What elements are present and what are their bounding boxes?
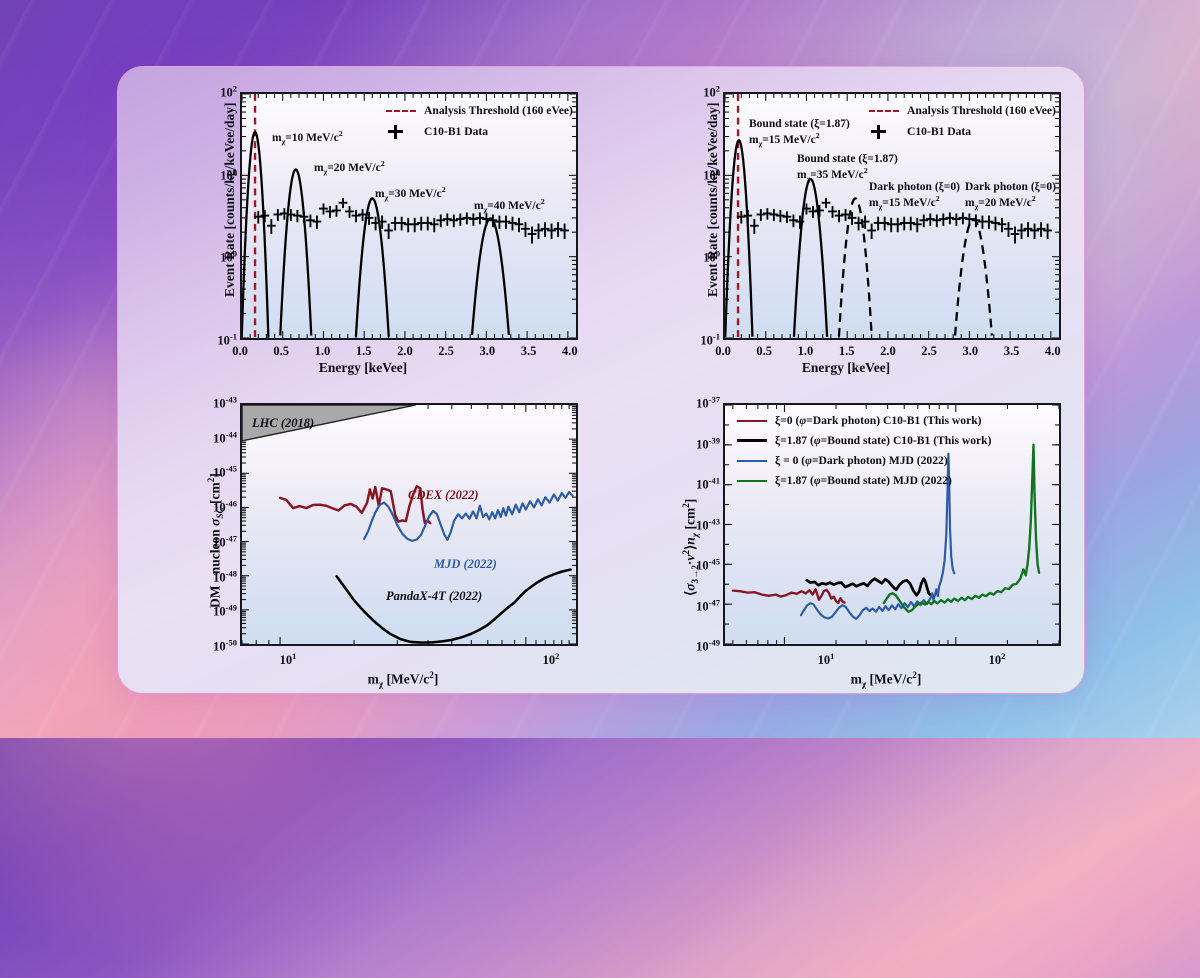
line-swatch-icon (737, 420, 767, 422)
figure-card: Event Rate [counts/kg/keVee/day] 102 101… (117, 66, 1085, 694)
xtick-bl-0: 101 (280, 651, 297, 668)
xtick-top-left-2: 1.0 (315, 344, 331, 359)
annotation-tr-peak2: Bound state (ξ=1.87)mχ=35 MeV/c2 (797, 152, 898, 184)
ytick-bl-2: 10-45 (196, 464, 237, 481)
legend-row-br-0: ξ=0 (φ=Dark photon) C10-B1 (This work) (737, 412, 992, 429)
ytick-top-right-0: 102 (687, 83, 720, 100)
xtitle-bottom-right: mχ [MeV/c2] (851, 670, 922, 689)
ytick-bl-4: 10-47 (196, 533, 237, 550)
xtitle-top-right: Energy [keVee] (802, 360, 890, 376)
ytick-bl-6: 10-49 (196, 603, 237, 620)
plot-canvas-bottom-left (242, 405, 576, 644)
xtick-top-right-7: 3.5 (1004, 344, 1020, 359)
xtick-top-right-3: 1.5 (839, 344, 855, 359)
ytick-bl-1: 10-44 (196, 429, 237, 446)
ytick-br-3: 10-43 (679, 516, 720, 533)
ytick-br-0: 10-37 (679, 394, 720, 411)
legend-label-br-2: ξ = 0 (φ=Dark photon) MJD (2022) (775, 454, 948, 467)
line-swatch-icon (737, 480, 767, 482)
curve-label-mjd: MJD (2022) (434, 557, 497, 572)
ytick-top-left-0: 102 (204, 83, 237, 100)
curve-label-pandax: PandaX-4T (2022) (386, 589, 482, 604)
ytick-br-1: 10-39 (679, 435, 720, 452)
legend-row-br-1: ξ=1.87 (φ=Bound state) C10-B1 (This work… (737, 432, 992, 449)
annotation-tl-peak2: mχ=20 MeV/c2 (314, 159, 385, 177)
legend-row-threshold: Analysis Threshold (160 eVee) (386, 102, 573, 119)
annotation-tl-peak4: mχ=40 MeV/c2 (474, 197, 545, 215)
legend-top-left: Analysis Threshold (160 eVee) C10-B1 Dat… (386, 102, 573, 140)
cross-marker-icon (386, 125, 416, 139)
ytick-top-right-2: 100 (687, 249, 720, 266)
xtick-top-right-6: 3.0 (962, 344, 978, 359)
ytick-br-6: 10-49 (679, 637, 720, 654)
annotation-tl-peak3: mχ=30 MeV/c2 (375, 185, 446, 203)
ytitle-top-left: Event Rate [counts/kg/keVee/day] (222, 103, 238, 298)
ytick-top-left-1: 101 (204, 166, 237, 183)
legend-row-br-3: ξ=1.87 (φ=Bound state) MJD (2022) (737, 472, 992, 489)
xtick-br-1: 102 (989, 651, 1006, 668)
panel-top-right: Event Rate [counts/kg/keVee/day] 102 101… (601, 67, 1084, 380)
dashed-line-icon (386, 110, 416, 112)
legend-top-right: Analysis Threshold (160 eVee) C10-B1 Dat… (869, 102, 1056, 140)
plot-frame-bottom-left (240, 403, 578, 646)
xtick-top-left-5: 2.5 (438, 344, 454, 359)
xtick-top-left-1: 0.5 (273, 344, 289, 359)
xtick-top-right-8: 4.0 (1045, 344, 1061, 359)
xtick-top-right-5: 2.5 (921, 344, 937, 359)
line-swatch-icon (737, 460, 767, 462)
annotation-tl-peak1: mχ=10 MeV/c2 (272, 129, 343, 147)
legend-bottom-right: ξ=0 (φ=Dark photon) C10-B1 (This work) ξ… (737, 412, 992, 489)
dashed-line-icon (869, 110, 899, 112)
legend-label-threshold: Analysis Threshold (160 eVee) (424, 104, 573, 117)
legend-label-br-1: ξ=1.87 (φ=Bound state) C10-B1 (This work… (775, 434, 992, 447)
legend-label-br-0: ξ=0 (φ=Dark photon) C10-B1 (This work) (775, 414, 982, 427)
panel-bottom-left: DM - nucleon σSC [cm2] 10-43 10-44 10-45… (118, 380, 601, 693)
line-swatch-icon (737, 439, 767, 442)
annotation-tr-peak1: Bound state (ξ=1.87)mχ=15 MeV/c2 (749, 117, 850, 149)
curve-label-lhc: LHC (2018) (252, 416, 314, 431)
xtick-top-left-3: 1.5 (356, 344, 372, 359)
ytick-br-2: 10-41 (679, 475, 720, 492)
xtick-top-right-1: 0.5 (756, 344, 772, 359)
xtick-top-left-7: 3.5 (521, 344, 537, 359)
ytick-top-left-2: 100 (204, 249, 237, 266)
xtick-bl-1: 102 (543, 651, 560, 668)
panel-top-left: Event Rate [counts/kg/keVee/day] 102 101… (118, 67, 601, 380)
ytick-bl-0: 10-43 (196, 394, 237, 411)
legend-row-br-2: ξ = 0 (φ=Dark photon) MJD (2022) (737, 452, 992, 469)
ytick-bl-5: 10-48 (196, 568, 237, 585)
legend-row-data: C10-B1 Data (869, 123, 1056, 140)
xtick-top-left-4: 2.0 (397, 344, 413, 359)
xtick-top-right-4: 2.0 (880, 344, 896, 359)
ytitle-top-right: Event Rate [counts/kg/keVee/day] (705, 103, 721, 298)
legend-row-data: C10-B1 Data (386, 123, 573, 140)
xtick-top-right-0: 0.0 (715, 344, 731, 359)
xtitle-top-left: Energy [keVee] (319, 360, 407, 376)
xtick-top-left-6: 3.0 (479, 344, 495, 359)
xtick-br-0: 101 (818, 651, 835, 668)
curve-label-cdex: CDEX (2022) (408, 488, 479, 503)
annotation-tr-peak4: Dark photon (ξ=0)mχ=20 MeV/c2 (965, 180, 1056, 212)
legend-label-br-3: ξ=1.87 (φ=Bound state) MJD (2022) (775, 474, 952, 487)
ytitle-bottom-right: ⟨σ3→2·v2⟩nχ [cm2] (681, 499, 700, 596)
ytick-bl-7: 10-50 (196, 637, 237, 654)
ytick-br-5: 10-47 (679, 597, 720, 614)
legend-label-threshold: Analysis Threshold (160 eVee) (907, 104, 1056, 117)
ytick-br-4: 10-45 (679, 556, 720, 573)
xtick-top-right-2: 1.0 (798, 344, 814, 359)
xtitle-bottom-left: mχ [MeV/c2] (368, 670, 439, 689)
xtick-top-left-8: 4.0 (562, 344, 578, 359)
panel-bottom-right: ⟨σ3→2·v2⟩nχ [cm2] 10-37 10-39 10-41 10-4… (601, 380, 1084, 693)
legend-row-threshold: Analysis Threshold (160 eVee) (869, 102, 1056, 119)
ytick-top-right-1: 101 (687, 166, 720, 183)
legend-label-data: C10-B1 Data (907, 125, 971, 138)
xtick-top-left-0: 0.0 (232, 344, 248, 359)
ytick-bl-3: 10-46 (196, 499, 237, 516)
cross-marker-icon (869, 125, 899, 139)
legend-label-data: C10-B1 Data (424, 125, 488, 138)
annotation-tr-peak3: Dark photon (ξ=0)mχ=15 MeV/c2 (869, 180, 960, 212)
